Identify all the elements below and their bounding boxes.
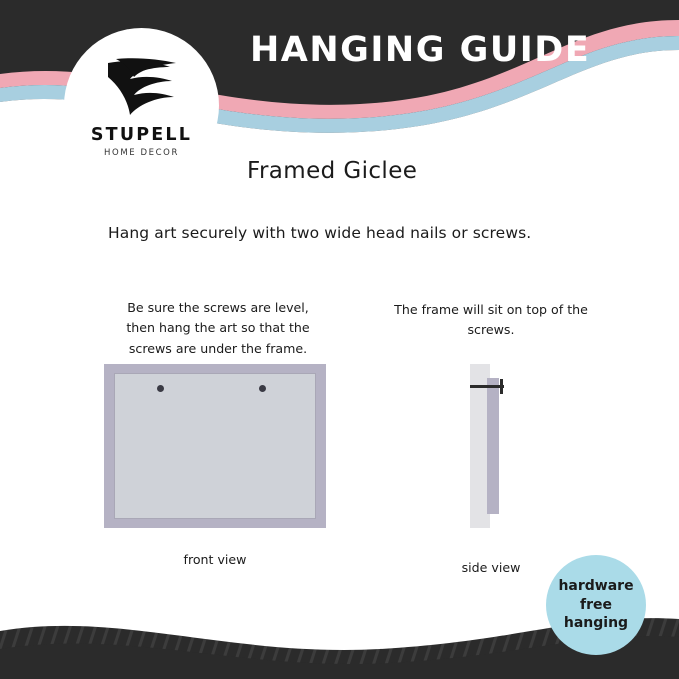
- stupell-swoosh-icon: [100, 57, 184, 119]
- screw-left-icon: [157, 385, 164, 392]
- badge-line-1: hardware: [558, 577, 633, 595]
- page-title: HANGING GUIDE: [250, 30, 590, 70]
- side-view-screw-head-icon: [500, 379, 503, 394]
- brand-name: STUPELL: [91, 125, 192, 145]
- hardware-free-badge: hardware free hanging: [546, 555, 646, 655]
- front-view-caption: front view: [104, 552, 326, 567]
- brand-logo: STUPELL HOME DECOR: [64, 28, 219, 183]
- side-view-screw-icon: [470, 385, 504, 388]
- front-view-frame: [104, 364, 326, 528]
- badge-text: hardware free hanging: [558, 577, 633, 632]
- front-view-instructions: Be sure the screws are level, then hang …: [112, 298, 324, 359]
- instruction-lead: Hang art securely with two wide head nai…: [108, 224, 578, 242]
- side-view-frame: [487, 378, 499, 514]
- screw-right-icon: [259, 385, 266, 392]
- front-view-artwork: [114, 373, 316, 519]
- brand-subtitle: HOME DECOR: [104, 148, 179, 158]
- side-view-instructions: The frame will sit on top of the screws.: [392, 300, 590, 341]
- hanging-guide-page: HANGING GUIDE STUPELL HOME DECOR Framed …: [0, 0, 679, 679]
- badge-line-2: free: [558, 596, 633, 614]
- badge-line-3: hanging: [558, 614, 633, 632]
- product-type-heading: Framed Giclee: [247, 158, 417, 184]
